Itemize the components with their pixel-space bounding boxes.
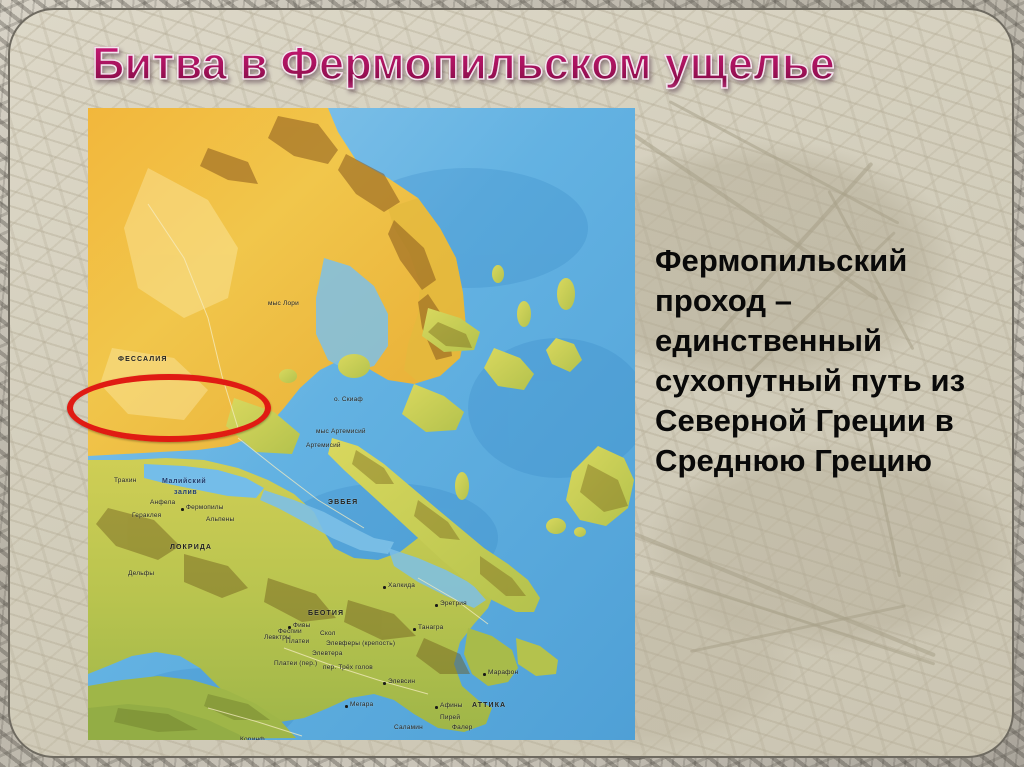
map-place-dot [435,706,438,709]
map-label-place: Платеи (пер.) [274,660,317,667]
map-place-dot [383,682,386,685]
map-label-place: Коринф [240,736,265,740]
map-label-place: пер. Трёх голов [323,664,373,671]
map-label-place: Артемисий [306,442,341,449]
map-place-dot [383,586,386,589]
map-label-region: ФЕССАЛИЯ [118,356,168,363]
map-place-dot [483,673,486,676]
map-label-place: Альпены [206,516,234,523]
map-label-place: Анфела [150,499,175,506]
map-label-place: Марафон [488,669,518,676]
map-label-place: Элевтера [312,650,343,657]
panel-etch-line [669,100,900,225]
map-label-place: Пирей [440,714,460,721]
map-place-dot [413,628,416,631]
map-label-place: Элевферы (крепость) [326,640,395,647]
map-label-place: Левктры [264,634,291,641]
map-place-dot [345,705,348,708]
body-paragraph: Фермопильский проход – единственный сухо… [655,241,985,481]
thermopylae-highlight-ellipse [67,374,271,442]
map-label-place: Фалер [452,724,473,731]
map-label-place: Саламин [394,724,423,731]
map-place-dot [435,604,438,607]
map-place-dot [181,508,184,511]
panel-etch-line [629,530,936,657]
content-panel: Битва в Фермопильском ущелье Фермопильск… [8,8,1014,758]
map-label-region: БЕОТИЯ [308,610,344,617]
map-label-place: Гераклея [132,512,161,519]
map-label-sea: Малийский [162,478,206,485]
map-label-place: Танагра [418,624,444,631]
map-label-place: мыс Артемисий [316,428,366,435]
map-label-place: Скол [320,630,336,637]
map-label-place: Фермопилы [186,504,224,511]
map-label-region: ЭВБЕЯ [328,499,358,506]
map-label-place: Трахин [114,477,137,484]
slide: Битва в Фермопильском ущелье Фермопильск… [0,0,1024,767]
map-label-region: ЛОКРИДА [170,544,212,551]
map-label-place: Мегара [350,701,373,708]
map-label-place: Элевсин [388,678,415,685]
map-label-region: АТТИКА [472,702,506,709]
map-label-place: Афины [440,702,463,709]
map-label-place: Дельфы [128,570,154,577]
map-label-place: Халкида [388,582,415,589]
map-label-sea: залив [174,489,197,496]
map-label-place: о. Скиаф [334,396,363,403]
page-title: Битва в Фермопильском ущелье [92,36,962,92]
map-label-place: Эретрия [440,600,467,607]
map-label-place: мыс Лори [268,300,299,307]
